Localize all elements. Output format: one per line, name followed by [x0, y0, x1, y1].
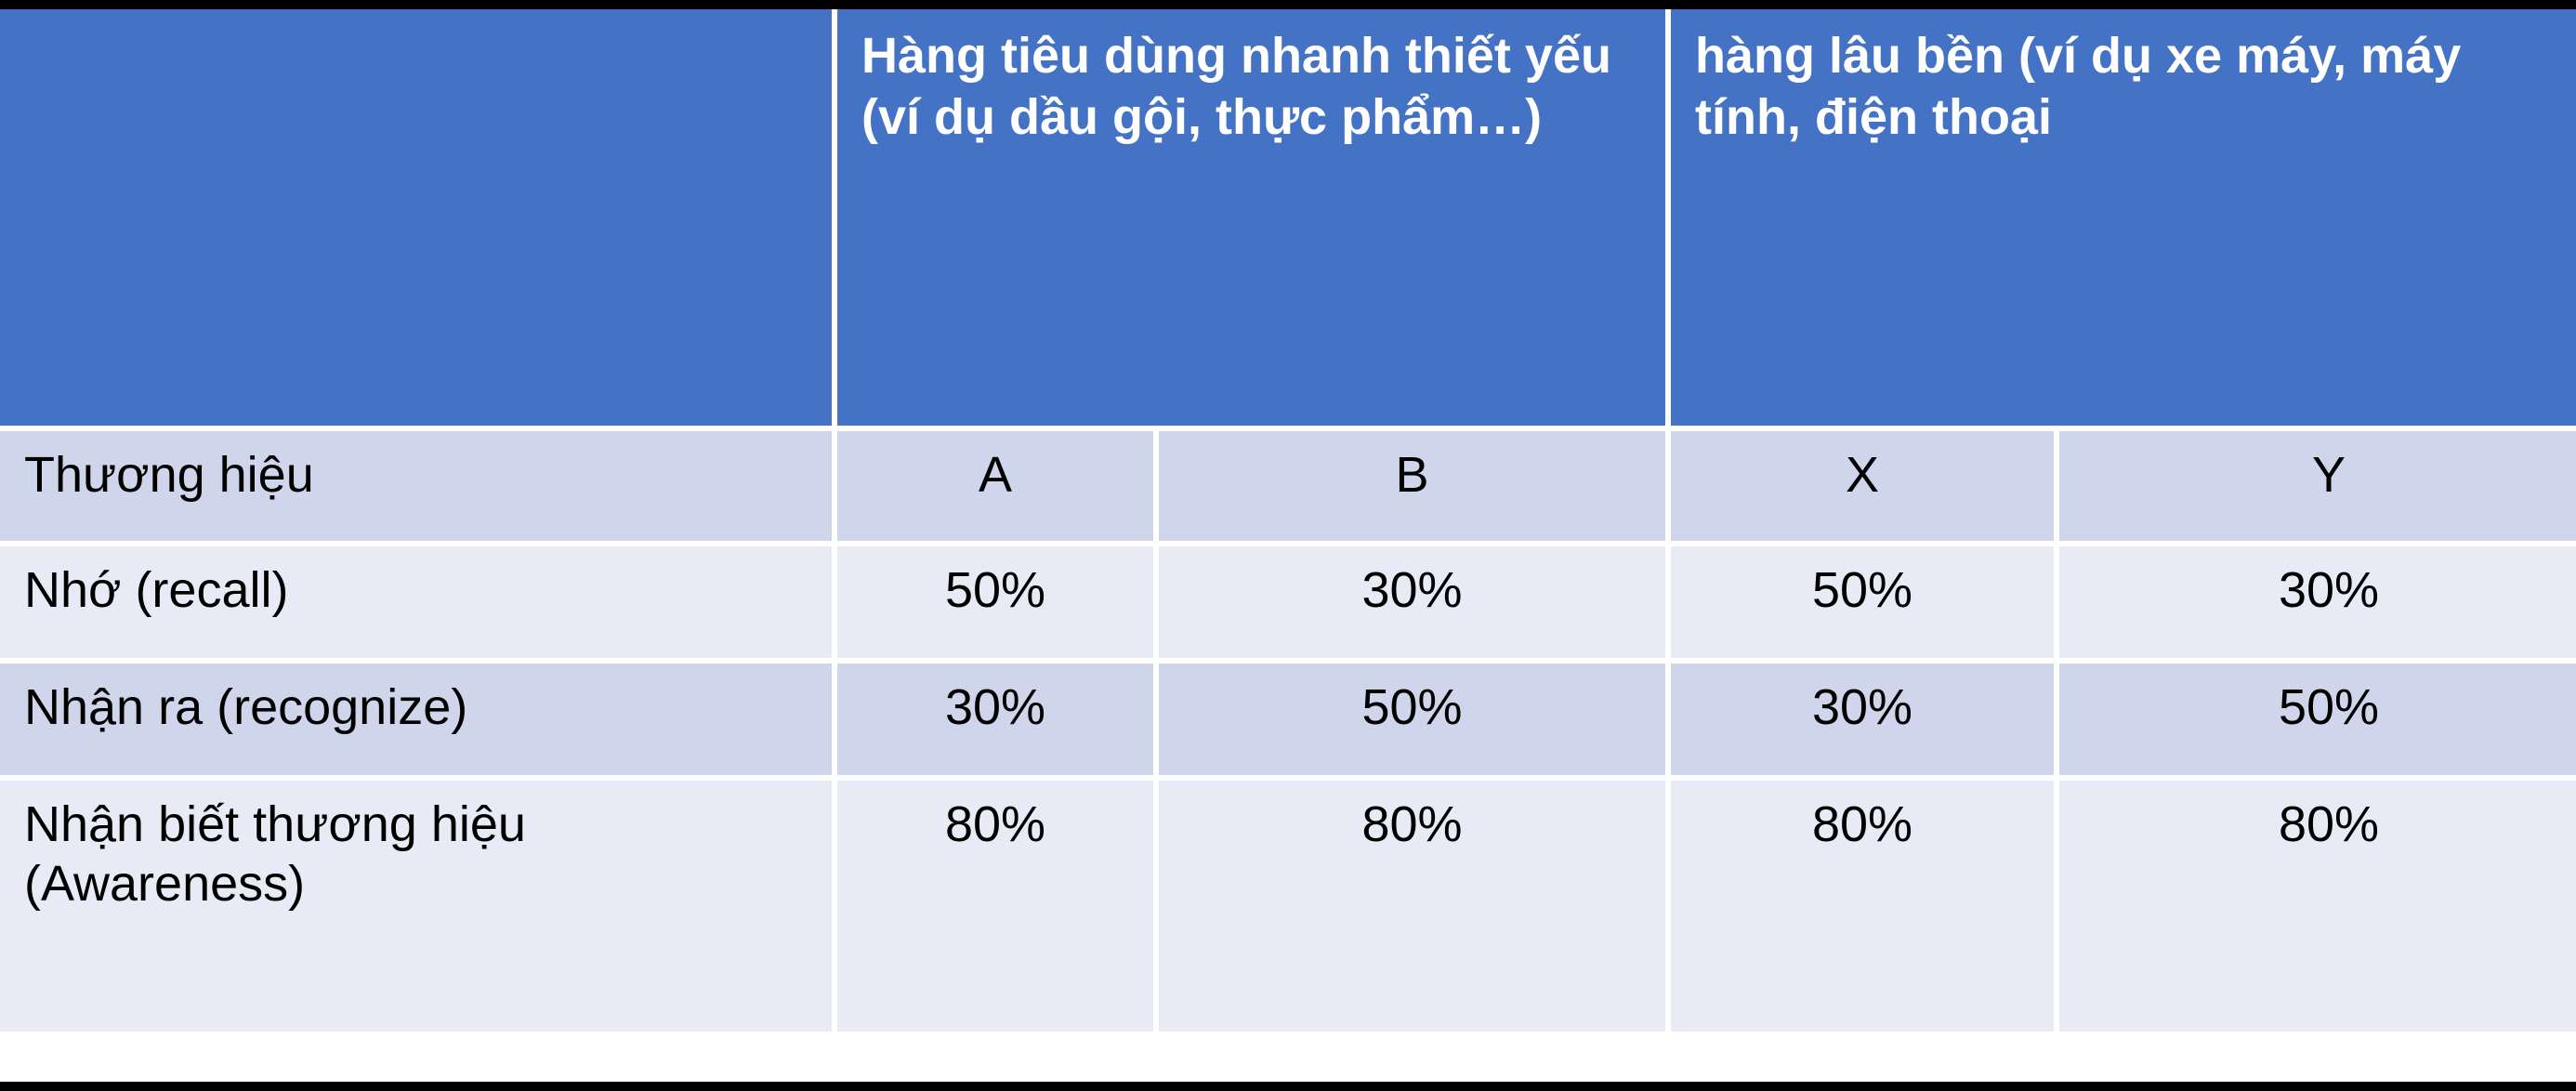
row-label-awareness: Nhận biết thương hiệu (Awareness) [0, 781, 832, 1032]
table-header-row: Hàng tiêu dùng nhanh thiết yếu (ví dụ dầ… [0, 9, 2576, 426]
value-recognize-x: 30% [1671, 664, 2054, 775]
value-recall-y: 30% [2059, 546, 2576, 658]
brand-header-x: X [1671, 431, 2054, 541]
header-cell-fmcg-group: Hàng tiêu dùng nhanh thiết yếu (ví dụ dầ… [837, 9, 1665, 426]
row-label-recognize: Nhận ra (recognize) [0, 664, 832, 775]
brand-awareness-table: Hàng tiêu dùng nhanh thiết yếu (ví dụ dầ… [0, 9, 2576, 1037]
table-row-recognize: Nhận ra (recognize) 30% 50% 30% 50% [0, 664, 2576, 775]
value-awareness-b: 80% [1159, 781, 1665, 1032]
value-recall-b: 30% [1159, 546, 1665, 658]
value-recall-x: 50% [1671, 546, 2054, 658]
header-cell-durable-group: hàng lâu bền (ví dụ xe máy, máy tính, đi… [1671, 9, 2576, 426]
brand-header-y: Y [2059, 431, 2576, 541]
value-recognize-b: 50% [1159, 664, 1665, 775]
value-awareness-a: 80% [837, 781, 1153, 1032]
brand-header-b: B [1159, 431, 1665, 541]
value-awareness-y: 80% [2059, 781, 2576, 1032]
table-row-awareness: Nhận biết thương hiệu (Awareness) 80% 80… [0, 781, 2576, 1032]
slide-canvas: Hàng tiêu dùng nhanh thiết yếu (ví dụ dầ… [0, 9, 2576, 1082]
row-label-brand: Thương hiệu [0, 431, 832, 541]
value-recognize-y: 50% [2059, 664, 2576, 775]
table-row-brand: Thương hiệu A B X Y [0, 431, 2576, 541]
slide-background: Hàng tiêu dùng nhanh thiết yếu (ví dụ dầ… [0, 0, 2576, 1091]
header-cell-blank [0, 9, 832, 426]
row-label-recall: Nhớ (recall) [0, 546, 832, 658]
value-recognize-a: 30% [837, 664, 1153, 775]
brand-header-a: A [837, 431, 1153, 541]
value-recall-a: 50% [837, 546, 1153, 658]
value-awareness-x: 80% [1671, 781, 2054, 1032]
table-row-recall: Nhớ (recall) 50% 30% 50% 30% [0, 546, 2576, 658]
